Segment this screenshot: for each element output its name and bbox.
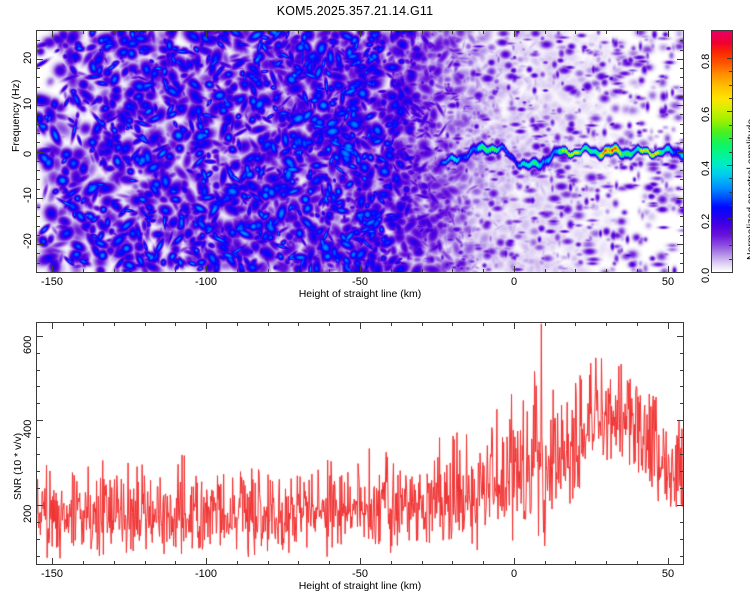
snr-y-tick-600: 600 [22, 336, 34, 354]
snr-y-axis-label: SNR (10 * v/v) [12, 433, 24, 500]
snr-x-axis-label: Height of straight line (km) [36, 580, 684, 592]
snr-y-tick-labels: 200400600 [0, 0, 750, 600]
figure-root: KOM5.2025.357.21.14.G11 -150-100-50050 2… [0, 0, 750, 600]
